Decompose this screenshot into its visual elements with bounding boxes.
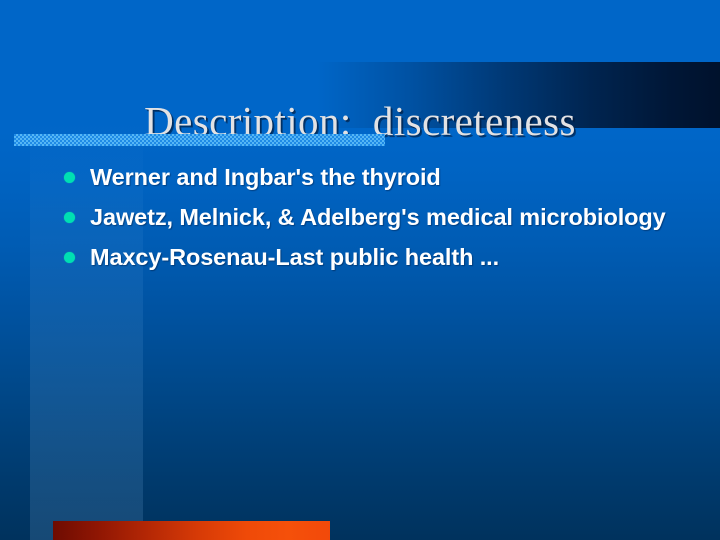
slide-canvas: Description: discreteness Werner and Ing… bbox=[0, 0, 720, 540]
bullet-dot-icon bbox=[64, 172, 75, 183]
bullet-dot-icon bbox=[64, 212, 75, 223]
list-item: Jawetz, Melnick, & Adelberg's medical mi… bbox=[60, 201, 680, 233]
slide-title: Description: discreteness bbox=[0, 90, 720, 152]
list-item-label: Maxcy-Rosenau-Last public health ... bbox=[90, 241, 680, 273]
bullet-list: Werner and Ingbar's the thyroid Jawetz, … bbox=[60, 161, 680, 281]
list-item: Werner and Ingbar's the thyroid bbox=[60, 161, 680, 193]
list-item-label: Werner and Ingbar's the thyroid bbox=[90, 161, 680, 193]
list-item-label: Jawetz, Melnick, & Adelberg's medical mi… bbox=[90, 201, 680, 233]
bullet-dot-icon bbox=[64, 252, 75, 263]
list-item: Maxcy-Rosenau-Last public health ... bbox=[60, 241, 680, 273]
bottom-accent-bar bbox=[53, 521, 330, 540]
